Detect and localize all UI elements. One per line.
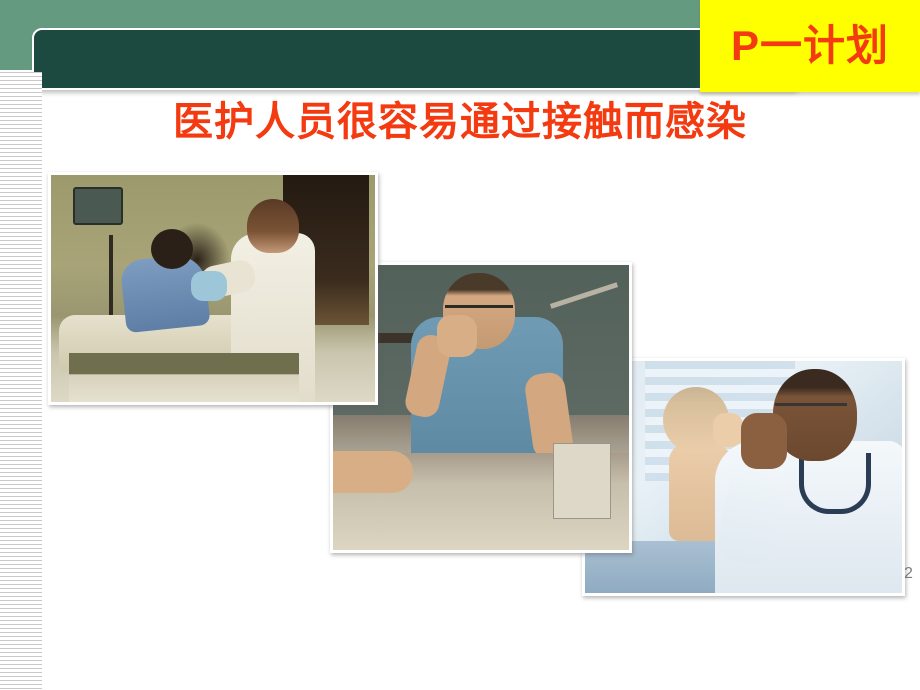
plan-badge: P一计划 <box>700 0 920 92</box>
photo-doctor-image <box>585 361 902 593</box>
cough-nurse-fist-at-mouth <box>437 315 477 357</box>
doctor-glasses <box>775 403 847 406</box>
plan-badge-label: P一计划 <box>731 25 889 67</box>
photo-ward-scene <box>48 172 378 405</box>
ward-monitor <box>73 187 123 225</box>
page-number: 2 <box>904 566 918 582</box>
ward-worker-white-head <box>247 199 299 253</box>
cough-medical-device <box>553 443 611 519</box>
ward-worker-blue-head <box>151 229 193 269</box>
slide-title: 医护人员很容易通过接触而感染 <box>0 100 920 144</box>
stethoscope-icon <box>799 453 871 514</box>
cough-nurse-glasses <box>445 305 513 308</box>
header-dark-bar <box>32 28 800 90</box>
slide-canvas: P一计划 医护人员很容易通过接触而感染 <box>0 0 920 690</box>
ward-counter <box>69 353 299 402</box>
photo-ward-image <box>51 175 375 402</box>
cough-patient-arm <box>333 451 413 493</box>
left-stripe-decoration <box>0 72 42 690</box>
child-hand-at-face <box>713 413 743 447</box>
doctor-hand-at-face <box>741 413 787 469</box>
ward-glove <box>191 271 227 301</box>
